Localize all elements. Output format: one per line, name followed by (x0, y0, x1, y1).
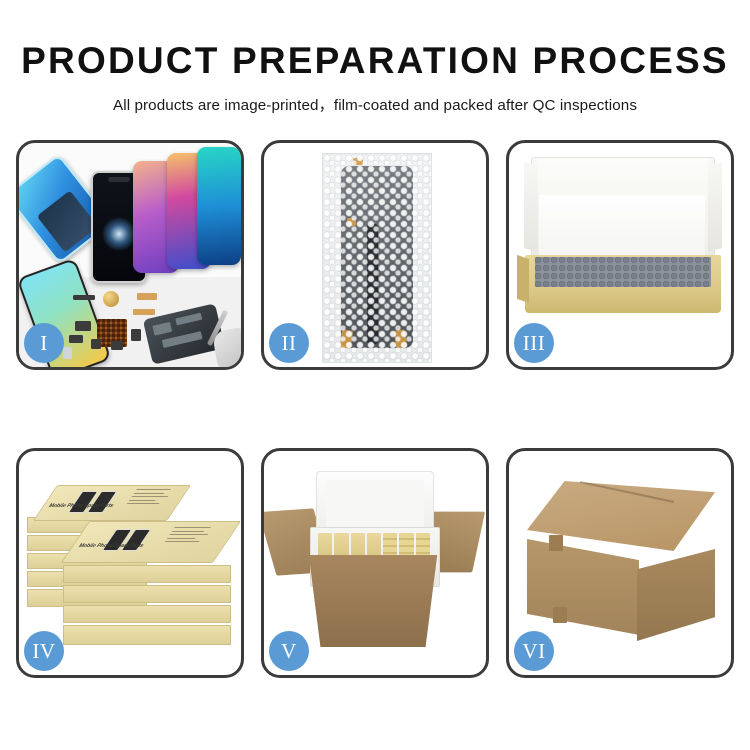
lid-label-back: Mobile Phone Spare Parts (47, 503, 115, 509)
poster-root: PRODUCT PREPARATION PROCESS All products… (0, 0, 750, 750)
process-panel-grid: I II (16, 140, 734, 700)
panel-badge-1: I (24, 323, 64, 363)
panel-badge-5: V (269, 631, 309, 671)
carton-side-face (637, 549, 715, 641)
stack-box-r2 (63, 585, 231, 603)
stack-box-r1 (63, 565, 231, 583)
bubble-wrap-texture (323, 154, 431, 362)
speaker-part (103, 291, 119, 307)
panel-badge-2: II (269, 323, 309, 363)
process-panel-4[interactable]: Mobile Phone Spare Parts Mobile Phone Sp… (16, 448, 244, 678)
process-panel-2[interactable]: II (261, 140, 489, 370)
process-panel-1[interactable]: I (16, 140, 244, 370)
shipping-carton-open (300, 555, 446, 647)
page-subtitle: All products are image-printed，film-coat… (0, 79, 750, 115)
bracket-part-2 (69, 335, 83, 343)
lid-label-front: Mobile Phone Spare Parts (77, 543, 145, 549)
camera-part (111, 341, 123, 350)
carton-tape-upper (549, 535, 563, 551)
flex-cable-2 (133, 309, 155, 315)
foam-sheet (539, 195, 705, 257)
panel-badge-4: IV (24, 631, 64, 671)
process-panel-6[interactable]: VI (506, 448, 734, 678)
screen-teal (197, 147, 241, 265)
bubble-bag (322, 153, 432, 363)
carton-front-face (527, 539, 639, 635)
flex-cable-1 (137, 293, 157, 300)
process-panel-5[interactable]: V (261, 448, 489, 678)
battery-part (63, 347, 72, 359)
process-panel-3[interactable]: III (506, 140, 734, 370)
poster-header: PRODUCT PREPARATION PROCESS All products… (0, 0, 750, 115)
page-title: PRODUCT PREPARATION PROCESS (0, 0, 750, 79)
component-bar (73, 295, 95, 300)
panel-badge-3: III (514, 323, 554, 363)
bracket-part-1 (75, 321, 91, 331)
stack-box-r4 (63, 625, 231, 645)
box-stack: Mobile Phone Spare Parts Mobile Phone Sp… (27, 469, 237, 661)
panel-badge-6: VI (514, 631, 554, 671)
stack-box-r3 (63, 605, 231, 623)
button-part (91, 339, 101, 349)
sim-tray-part (131, 329, 141, 341)
bubble-wrapped-contents (535, 257, 711, 287)
carton-tape-lower (553, 607, 567, 623)
